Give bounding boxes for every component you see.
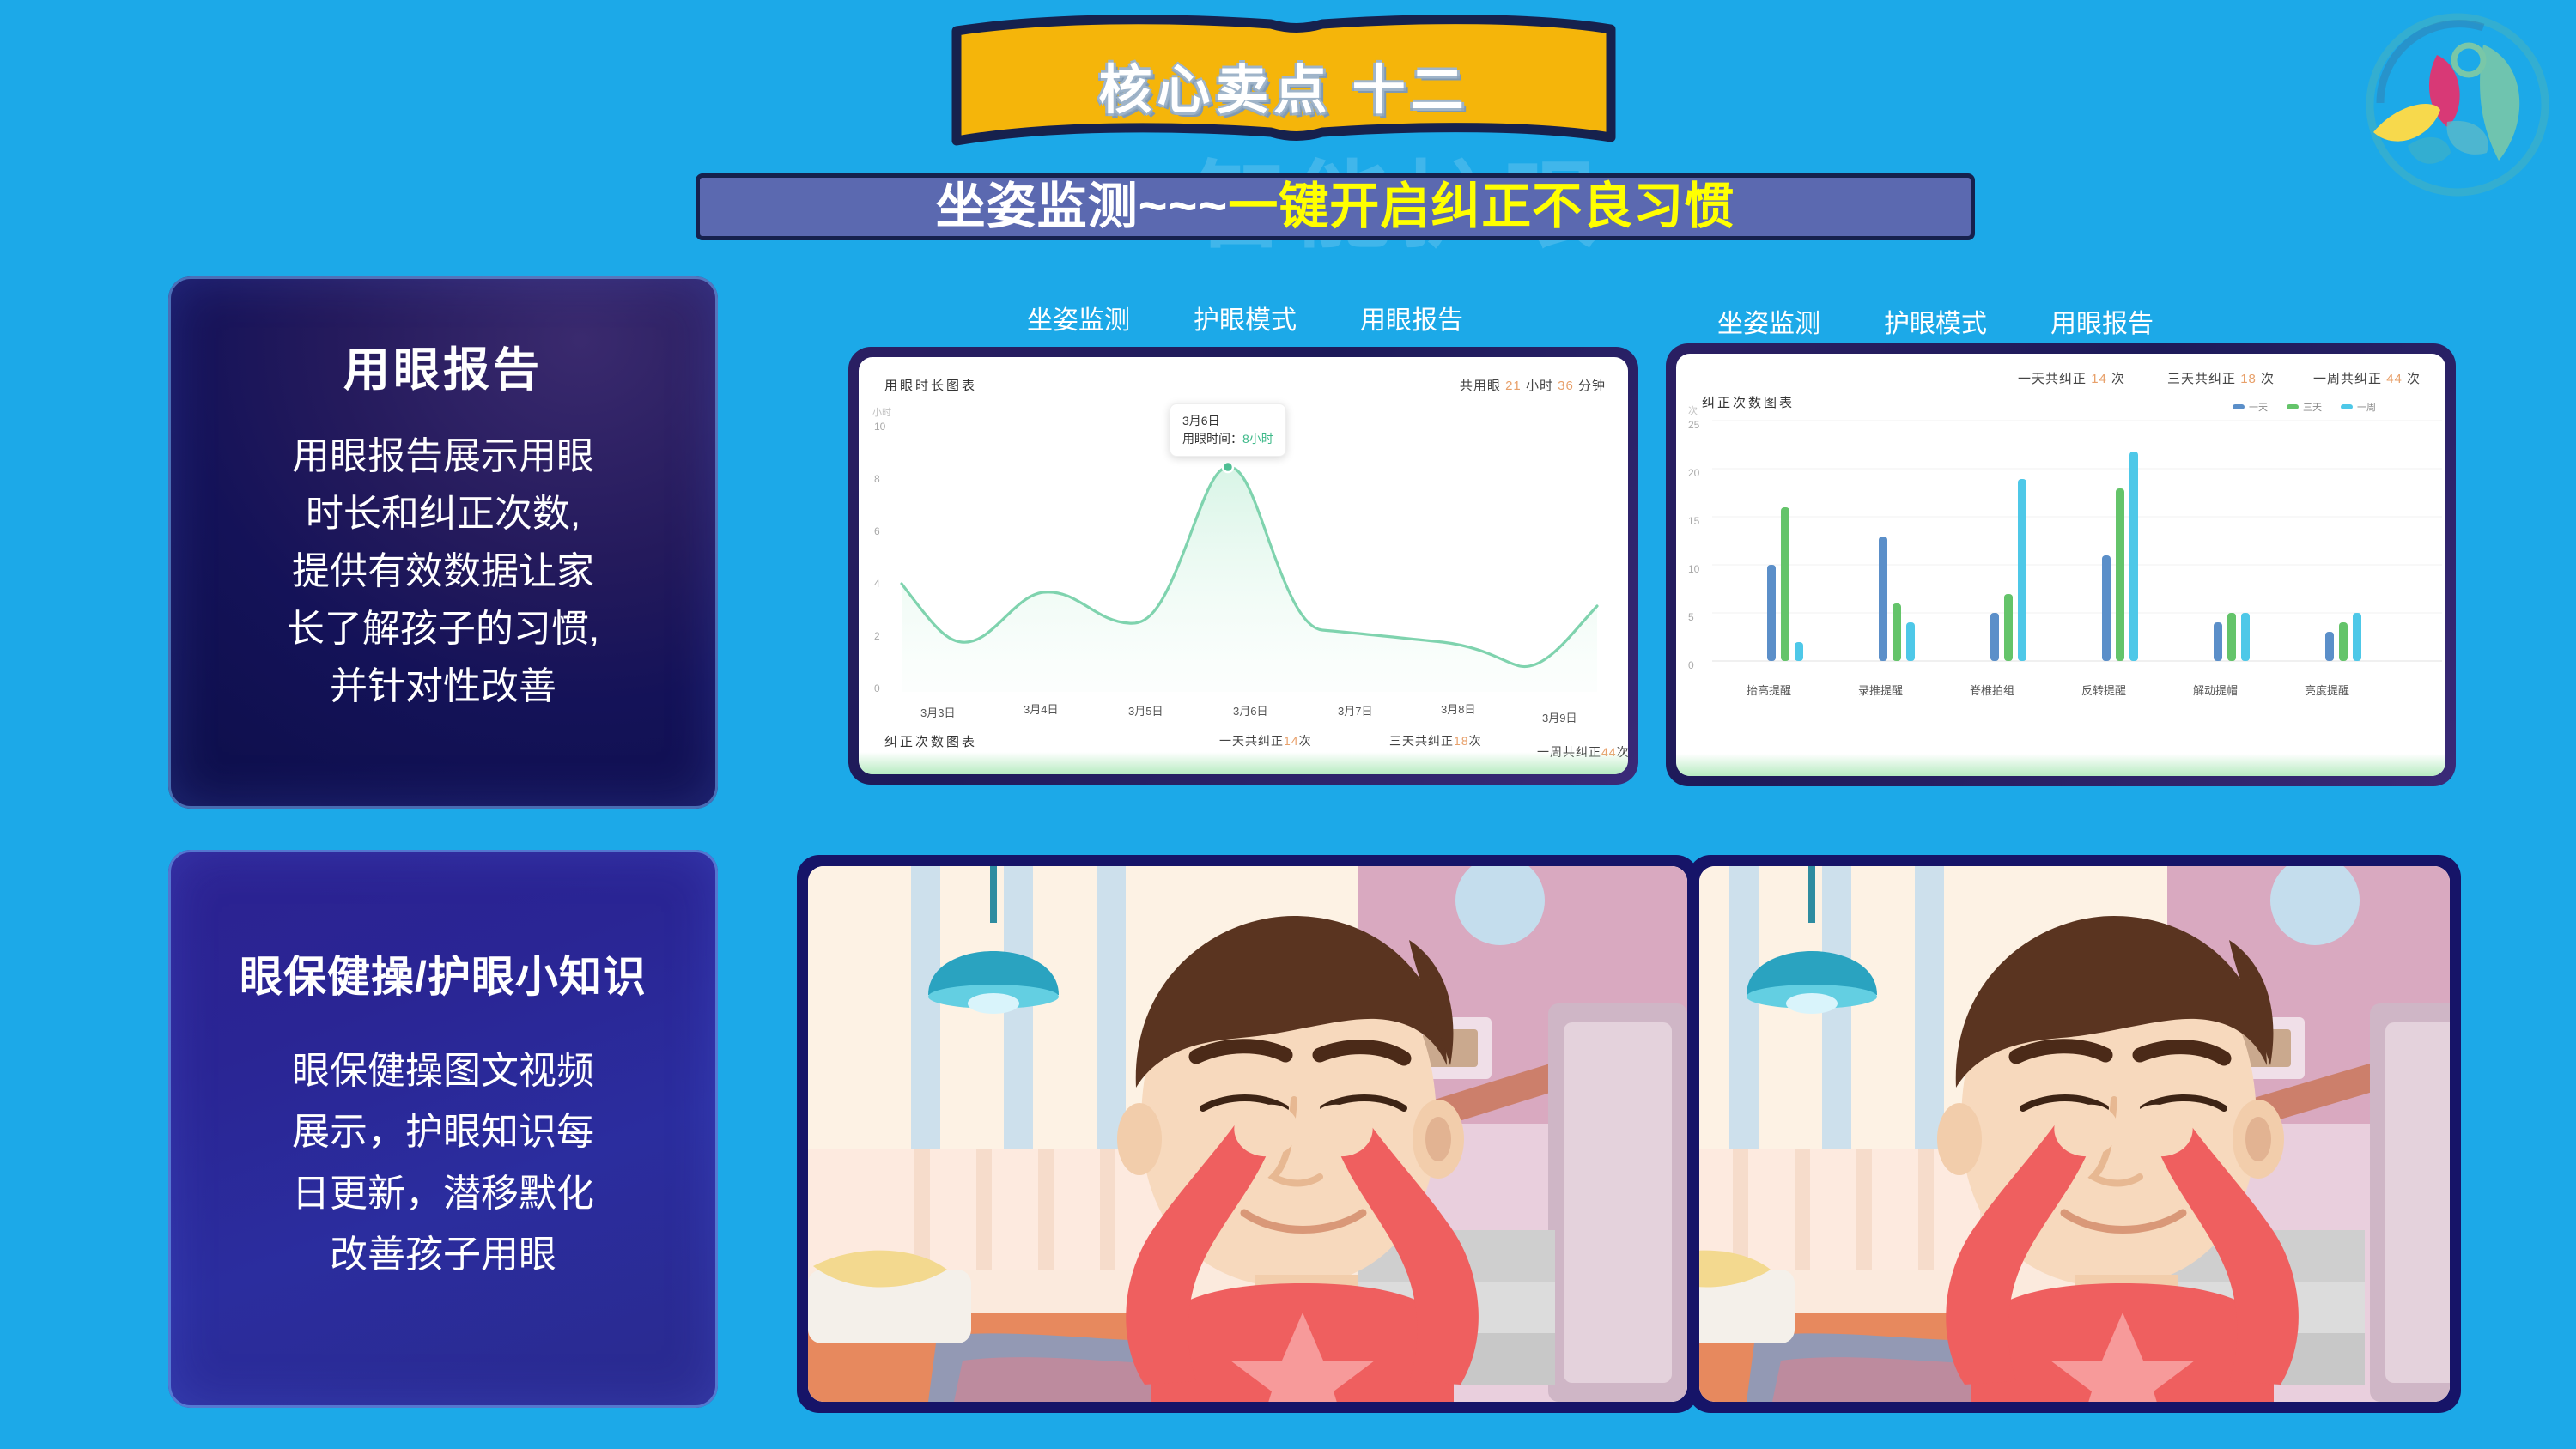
media-image-eye-exercise-1 <box>808 866 1687 1402</box>
x-tick: 3月6日 <box>1233 702 1267 718</box>
panel-title-eye-report: 用眼报告 <box>168 331 718 399</box>
device-card-bar-chart: 纠正次数图表 一天共纠正 14 次 三天共纠正 18 次 一周共纠正 44 次 … <box>1666 343 2456 786</box>
panel-line: 日更新，潜移默化 <box>168 1163 718 1224</box>
subtitle-text: 坐姿监测~~~一键开启纠正不良习惯 <box>936 182 1735 232</box>
x-tick: 3月9日 <box>1542 709 1577 725</box>
y-tick: 6 <box>874 525 880 537</box>
tooltip-label: 用眼时间： <box>1182 432 1242 446</box>
panel-line: 展示，护眼知识每 <box>168 1101 718 1162</box>
stat-value: 18 <box>1454 734 1469 748</box>
bar-chart-plot <box>1712 407 2442 675</box>
y-tick: 2 <box>874 630 880 642</box>
y-tick: 20 <box>1688 467 1699 479</box>
screen-bar-chart: 纠正次数图表 一天共纠正 14 次 三天共纠正 18 次 一周共纠正 44 次 … <box>1676 354 2445 776</box>
line-chart-title: 用眼时长图表 <box>884 376 977 394</box>
tab-eye-report[interactable]: 用眼报告 <box>1360 299 1463 336</box>
stat-hours-unit: 小时 <box>1526 379 1553 393</box>
next-chart-title: 纠正次数图表 <box>884 732 977 750</box>
tab-posture-monitor[interactable]: 坐姿监测 <box>1717 302 1820 340</box>
stat-suffix: 次 <box>1299 734 1312 748</box>
x-tick: 解动提帽 <box>2193 682 2238 698</box>
stat-suffix: 次 <box>2407 372 2421 386</box>
next-chart-stat-day: 一天共纠正3月3日14次 <box>1219 732 1312 749</box>
brand-logo <box>2354 2 2561 208</box>
x-tick: 反转提醒 <box>2081 682 2126 698</box>
subtitle-yellow-part: 一键开启纠正不良习惯 <box>1228 179 1735 234</box>
line-chart-tooltip: 3月6日 用眼时间：8小时 <box>1170 403 1286 457</box>
screen-line-chart: 用眼时长图表 共用眼 21 小时 36 分钟 小时 10 8 6 4 2 0 <box>859 357 1628 774</box>
y-tick: 25 <box>1688 419 1699 431</box>
x-tick: 3月5日 <box>1128 702 1163 718</box>
x-tick: 3月8日 <box>1441 700 1475 717</box>
tab-row-left: 坐姿监测 护眼模式 用眼报告 <box>1027 299 1527 336</box>
bar-chart-stat-3day: 三天共纠正 18 次 <box>2167 369 2275 387</box>
stat-prefix: 三天共纠正 <box>1389 734 1454 748</box>
next-chart-stat-3day: 三天共纠正18次 <box>1389 732 1482 749</box>
stat-value: 44 <box>2386 372 2403 386</box>
stat-value: 18 <box>2240 372 2257 386</box>
x-tick: 脊椎拍组 <box>1970 682 2014 698</box>
stat-prefix: 一周共纠正 <box>2313 372 2382 386</box>
stat-suffix: 次 <box>2261 372 2275 386</box>
y-tick: 15 <box>1688 515 1699 527</box>
stat-minutes-unit: 分钟 <box>1578 379 1606 393</box>
subtitle-bar: 坐姿监测~~~一键开启纠正不良习惯 <box>696 173 1975 240</box>
stat-prefix: 一天共纠正 <box>2018 372 2087 386</box>
stat-hours: 21 <box>1505 379 1522 393</box>
panel-body-eye-report: 用眼报告展示用眼 时长和纠正次数, 提供有效数据让家 长了解孩子的习惯, 并针对… <box>168 428 718 715</box>
x-tick: 3月3日 <box>920 704 955 720</box>
tooltip-row: 用眼时间：8小时 <box>1182 430 1273 448</box>
x-tick: 3月7日 <box>1338 702 1372 718</box>
info-panel-eye-report: 用眼报告 用眼报告展示用眼 时长和纠正次数, 提供有效数据让家 长了解孩子的习惯… <box>168 276 718 809</box>
stat-value: 14 <box>2091 372 2107 386</box>
panel-line: 并针对性改善 <box>168 658 718 716</box>
device-card-line-chart: 用眼时长图表 共用眼 21 小时 36 分钟 小时 10 8 6 4 2 0 <box>848 347 1638 785</box>
bar-chart-y-unit: 次 <box>1688 403 1698 417</box>
stat-prefix: 一周共纠正 <box>1537 745 1601 759</box>
bar-chart-stat-week: 一周共纠正 44 次 <box>2313 369 2421 387</box>
ribbon-shape <box>945 12 1623 158</box>
tab-eye-protect-mode[interactable]: 护眼模式 <box>1884 302 1987 340</box>
panel-line: 提供有效数据让家 <box>168 543 718 601</box>
tab-row-right: 坐姿监测 护眼模式 用眼报告 <box>1717 302 2217 340</box>
x-tick: 亮度提醒 <box>2305 682 2349 698</box>
tab-posture-monitor[interactable]: 坐姿监测 <box>1027 299 1130 336</box>
line-chart-total-stat: 共用眼 21 小时 36 分钟 <box>1460 376 1606 394</box>
info-panel-eye-exercise: 眼保健操/护眼小知识 眼保健操图文视频 展示，护眼知识每 日更新，潜移默化 改善… <box>168 850 718 1408</box>
y-tick: 8 <box>874 473 880 485</box>
line-chart-active-point <box>1223 462 1233 472</box>
stat-suffix: 次 <box>2111 372 2125 386</box>
y-tick: 0 <box>1688 659 1694 671</box>
tab-eye-protect-mode[interactable]: 护眼模式 <box>1194 299 1297 336</box>
stat-suffix: 次 <box>1469 734 1482 748</box>
media-card-eye-exercise-2[interactable] <box>1688 855 2461 1413</box>
subtitle-white-part: 坐姿监测~~~ <box>936 179 1229 234</box>
y-tick: 10 <box>1688 563 1699 575</box>
bar-chart-stat-day: 一天共纠正 14 次 <box>2018 369 2125 387</box>
line-chart-y-unit: 小时 <box>872 405 891 419</box>
stat-prefix: 一天共纠正 <box>1219 734 1284 748</box>
x-tick: 3月4日 <box>1024 700 1058 717</box>
y-tick: 0 <box>874 682 880 694</box>
media-image-eye-exercise-2 <box>1699 866 2450 1402</box>
panel-line: 用眼报告展示用眼 <box>168 428 718 486</box>
stat-suffix: 次 <box>1617 745 1628 759</box>
y-tick: 4 <box>874 578 880 590</box>
tooltip-value: 8小时 <box>1242 432 1273 446</box>
x-tick: 录推提醒 <box>1858 682 1903 698</box>
x-tick: 抬高提醒 <box>1747 682 1791 698</box>
media-card-eye-exercise-1[interactable] <box>797 855 1698 1413</box>
stat-value: 44 <box>1601 745 1617 759</box>
stat-minutes: 36 <box>1558 379 1574 393</box>
panel-line: 长了解孩子的习惯, <box>168 601 718 658</box>
stat-value: 14 <box>1284 734 1299 748</box>
stat-prefix: 共用眼 <box>1460 379 1501 393</box>
panel-line: 改善孩子用眼 <box>168 1224 718 1285</box>
stat-prefix: 三天共纠正 <box>2167 372 2236 386</box>
tab-eye-report[interactable]: 用眼报告 <box>2050 302 2154 340</box>
panel-line: 时长和纠正次数, <box>168 486 718 543</box>
next-chart-stat-week: 一周共纠正44次 <box>1537 743 1628 761</box>
y-tick: 10 <box>874 421 885 433</box>
panel-body-eye-exercise: 眼保健操图文视频 展示，护眼知识每 日更新，潜移默化 改善孩子用眼 <box>168 1040 718 1285</box>
y-tick: 5 <box>1688 611 1694 623</box>
tooltip-date: 3月6日 <box>1182 412 1273 430</box>
panel-title-eye-exercise: 眼保健操/护眼小知识 <box>168 943 718 1004</box>
banner-ribbon: 核心卖点 十二 <box>945 12 1623 158</box>
panel-line: 眼保健操图文视频 <box>168 1040 718 1101</box>
panel-glow-bottom-right <box>607 1297 718 1408</box>
